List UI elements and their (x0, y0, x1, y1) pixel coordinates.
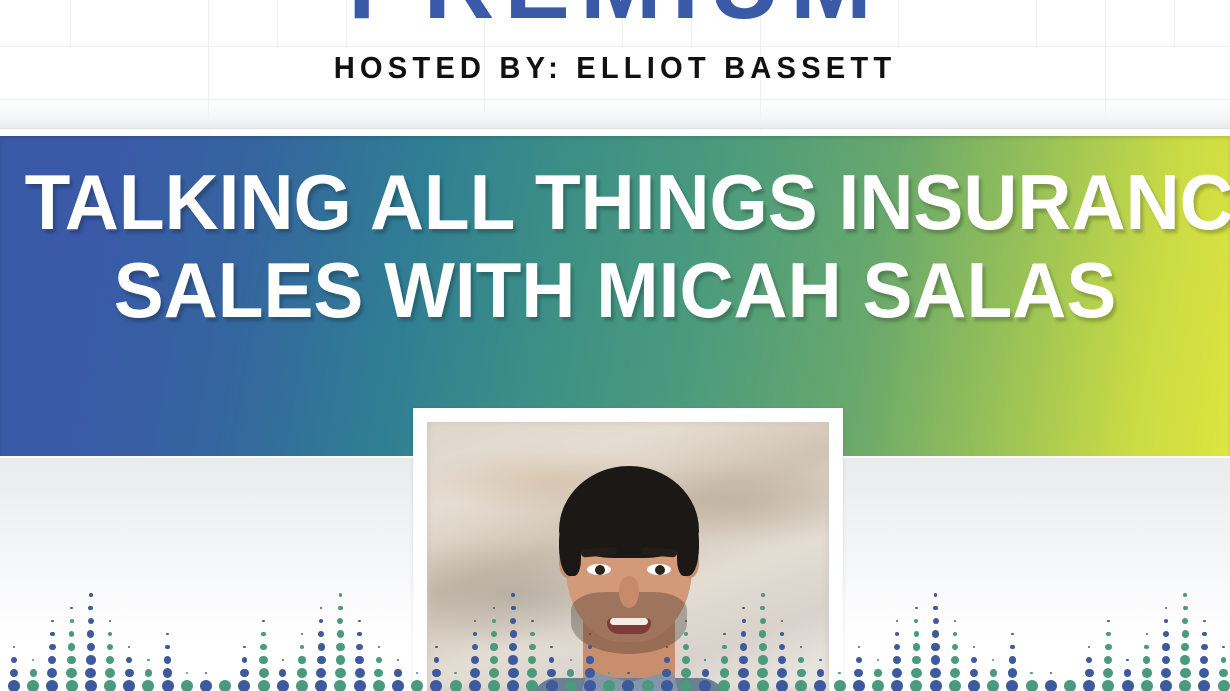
equalizer-column (736, 588, 752, 691)
equalizer-dot (740, 643, 747, 650)
equalizer-dot (315, 680, 327, 691)
equalizer-dot (394, 669, 401, 676)
equalizer-dot (30, 669, 37, 676)
equalizer-column (83, 588, 99, 691)
equalizer-dot (106, 656, 114, 664)
equalizer-dot (1163, 631, 1169, 637)
equalizer-dot (48, 656, 56, 664)
equalizer-dot (930, 668, 941, 679)
equalizer-dot (240, 669, 249, 678)
equalizer-column (1024, 588, 1040, 691)
equalizer-dot (528, 656, 536, 664)
equalizer-dot (661, 680, 673, 691)
equalizer-dot (1165, 607, 1168, 610)
equalizer-dot (1102, 680, 1114, 691)
equalizer-dot (738, 668, 748, 678)
equalizer-dot (392, 680, 404, 691)
equalizer-column (1196, 588, 1212, 691)
equalizer-dot (430, 680, 442, 691)
equalizer-dot (318, 631, 324, 637)
thumbnail-stage: PREMIUM HOSTED BY: ELLIOT BASSETT TALKIN… (0, 0, 1230, 691)
equalizer-dot (32, 659, 35, 662)
equalizer-dot (416, 672, 419, 675)
hair-side-left (559, 518, 581, 576)
equalizer-dot (915, 607, 918, 610)
equalizer-dot (853, 680, 865, 691)
equalizer-column (332, 588, 348, 691)
equalizer-dot (914, 631, 920, 637)
equalizer-column (870, 588, 886, 691)
equalizer-dot (357, 632, 361, 636)
equalizer-dot (1162, 643, 1169, 650)
equalizer-dot (1219, 669, 1228, 678)
equalizer-dot (642, 680, 654, 691)
equalizer-dot (1083, 680, 1095, 691)
equalizer-dot (817, 669, 824, 676)
equalizer-dot (88, 618, 94, 624)
equalizer-dot (797, 669, 806, 678)
equalizer-dot (354, 680, 366, 691)
equalizer-dot (1200, 656, 1208, 664)
equalizer-dot (1006, 680, 1018, 691)
equalizer-dot (877, 659, 880, 662)
equalizer-dot (930, 680, 942, 691)
equalizer-dot (666, 646, 669, 649)
equalizer-dot (492, 619, 496, 623)
equalizer-dot (800, 646, 803, 649)
equalizer-dot (742, 619, 746, 623)
equalizer-dot (913, 643, 920, 650)
equalizer-dot (67, 656, 76, 665)
equalizer-dot (277, 680, 289, 691)
equalizer-dot (296, 680, 308, 691)
equalizer-dot (1201, 644, 1207, 650)
equalizer-dot (373, 680, 385, 691)
equalizer-dot (125, 669, 134, 678)
equalizer-dot (891, 680, 903, 691)
equalizer-column (236, 588, 252, 691)
pupil-right (655, 565, 665, 575)
equalizer-dot (358, 620, 361, 623)
equalizer-dot (50, 632, 54, 636)
equalizer-dot (70, 607, 73, 610)
equalizer-column (697, 588, 713, 691)
equalizer-dot (507, 680, 519, 691)
equalizer-dot (683, 644, 689, 650)
equalizer-dot (508, 668, 519, 679)
equalizer-column (966, 588, 982, 691)
equalizer-dot (778, 656, 786, 664)
equalizer-dot (105, 668, 115, 678)
equalizer-dot (123, 680, 135, 691)
hair-side-right (677, 518, 699, 576)
equalizer-dot (336, 655, 346, 665)
equalizer-dot (397, 659, 400, 662)
equalizer-dot (932, 630, 939, 637)
equalizer-dot (282, 659, 285, 662)
equalizer-dot (973, 646, 976, 649)
equalizer-dot (490, 643, 497, 650)
equalizer-dot (434, 657, 440, 663)
equalizer-dot (720, 668, 730, 678)
equalizer-column (25, 588, 41, 691)
equalizer-dot (910, 680, 922, 691)
equalizer-dot (472, 644, 478, 650)
equalizer-dot (66, 668, 76, 678)
equalizer-dot (200, 680, 212, 691)
equalizer-dot (1180, 655, 1190, 665)
equalizer-dot (68, 643, 75, 650)
equalizer-dot (374, 669, 383, 678)
equalizer-column (544, 588, 560, 691)
equalizer-dot (608, 672, 611, 675)
equalizer-dot (70, 619, 74, 623)
equalizer-dot (895, 632, 899, 636)
equalizer-dot (760, 618, 766, 624)
equalizer-column (524, 588, 540, 691)
equalizer-dot (336, 643, 344, 651)
equalizer-dot (320, 607, 323, 610)
equalizer-dot (316, 668, 326, 678)
equalizer-dot (411, 680, 423, 691)
equalizer-column (160, 588, 176, 691)
equalizer-dot (163, 668, 173, 678)
equalizer-dot (759, 643, 767, 651)
equalizer-column (140, 588, 156, 691)
equalizer-dot (681, 668, 691, 678)
equalizer-dot (166, 633, 169, 636)
equalizer-dot (107, 644, 113, 650)
equalizer-column (793, 588, 809, 691)
equalizer-column (390, 588, 406, 691)
equalizer-dot (493, 607, 496, 610)
equalizer-dot (1008, 668, 1018, 678)
equalizer-dot (894, 644, 900, 650)
equalizer-dot (469, 680, 481, 691)
equalizer-dot (950, 668, 960, 678)
equalizer-dot (1010, 645, 1015, 650)
equalizer-dot (721, 656, 728, 663)
equalizer-column (102, 588, 118, 691)
equalizer-dot (10, 669, 19, 678)
equalizer-dot (1104, 656, 1112, 664)
equalizer-column (640, 588, 656, 691)
equalizer-column (409, 588, 425, 691)
equalizer-column (371, 588, 387, 691)
equalizer-column (601, 588, 617, 691)
header-divider (0, 128, 1230, 129)
equalizer-dot (108, 632, 112, 636)
equalizer-dot (741, 631, 747, 637)
equalizer-dot (87, 630, 94, 637)
equalizer-column (563, 588, 579, 691)
equalizer-dot (164, 656, 171, 663)
hosted-by-label: HOSTED BY: ELLIOT BASSETT (37, 52, 1193, 83)
equalizer-dot (664, 657, 670, 663)
equalizer-dot (259, 656, 267, 664)
equalizer-dot (702, 669, 709, 676)
equalizer-dot (142, 680, 154, 691)
equalizer-dot (1221, 657, 1227, 663)
equalizer-column (275, 588, 291, 691)
equalizer-dot (1199, 668, 1209, 678)
equalizer-column (1100, 588, 1116, 691)
equalizer-dot (952, 644, 958, 650)
equalizer-dot (547, 669, 556, 678)
equalizer-dot (219, 680, 231, 691)
equalizer-dot (704, 659, 707, 662)
equalizer-dot (761, 593, 765, 597)
equalizer-dot (145, 669, 152, 676)
equalizer-dot (1026, 680, 1038, 691)
equalizer-dot (454, 672, 457, 675)
equalizer-column (832, 588, 848, 691)
equalizer-dot (1086, 657, 1092, 663)
equalizer-column (1120, 588, 1136, 691)
equalizer-dot (262, 620, 265, 623)
equalizer-column (64, 588, 80, 691)
equalizer-dot (529, 644, 535, 650)
equalizer-dot (259, 668, 269, 678)
equalizer-dot (1050, 672, 1053, 675)
equalizer-dot (318, 643, 325, 650)
equalizer-dot (1124, 669, 1131, 676)
equalizer-dot (1030, 672, 1033, 675)
equalizer-column (1177, 588, 1193, 691)
equalizer-dot (1198, 680, 1210, 691)
header-fade (0, 99, 1230, 128)
equalizer-dot (742, 607, 745, 610)
equalizer-dot (46, 680, 58, 691)
equalizer-dot (565, 680, 577, 691)
equalizer-column (1158, 588, 1174, 691)
equalizer-dot (1106, 632, 1110, 636)
equalizer-dot (759, 630, 766, 637)
episode-title-line-1: TALKING ALL THINGS INSURANCE (25, 158, 1206, 246)
equalizer-dot (337, 618, 343, 624)
equalizer-dot (931, 643, 939, 651)
equalizer-dot (819, 659, 822, 662)
equalizer-dot (473, 632, 477, 636)
equalizer-dot (1045, 680, 1057, 691)
equalizer-dot (242, 657, 248, 663)
equalizer-dot (128, 646, 131, 649)
equalizer-dot (1203, 620, 1206, 623)
equalizer-dot (757, 680, 769, 691)
equalizer-dot (1183, 606, 1188, 611)
equalizer-dot (760, 606, 765, 611)
equalizer-column (947, 588, 963, 691)
equalizer-dot (1183, 593, 1187, 597)
equalizer-dot (896, 620, 899, 623)
equalizer-dot (987, 680, 999, 691)
equalizer-dot (968, 680, 980, 691)
equalizer-dot (911, 668, 921, 678)
equalizer-dot (51, 620, 54, 623)
equalizer-dot (622, 680, 634, 691)
equalizer-column (1081, 588, 1097, 691)
equalizer-dot (300, 645, 305, 650)
equalizer-dot (951, 656, 959, 664)
equalizer-column (678, 588, 694, 691)
equalizer-dot (627, 672, 630, 675)
equalizer-dot (1085, 669, 1094, 678)
equalizer-dot (680, 680, 692, 691)
equalizer-dot (298, 656, 305, 663)
equalizer-dot (186, 672, 189, 675)
equalizer-dot (509, 643, 517, 651)
equalizer-dot (814, 680, 826, 691)
equalizer-dot (1143, 656, 1150, 663)
equalizer-dot (238, 680, 250, 691)
equalizer-dot (376, 657, 382, 663)
equalizer-dot (931, 655, 941, 665)
equalizer-dot (471, 656, 479, 664)
equalizer-dot (181, 680, 193, 691)
equalizer-dot (570, 659, 573, 662)
equalizer-dot (510, 630, 517, 637)
equalizer-column (179, 588, 195, 691)
equalizer-dot (338, 606, 343, 611)
equalizer-column (774, 588, 790, 691)
equalizer-dot (954, 620, 957, 623)
equalizer-dot (339, 593, 343, 597)
equalizer-dot (739, 656, 748, 665)
equalizer-dot (738, 680, 750, 691)
equalizer-dot (450, 680, 462, 691)
equalizer-dot (432, 669, 441, 678)
equalizer-dot (530, 632, 534, 636)
equalizer-column (908, 588, 924, 691)
equalizer-column (198, 588, 214, 691)
equalizer-dot (872, 680, 884, 691)
equalizer-dot (260, 644, 266, 650)
audio-dot-equalizer (0, 588, 1230, 691)
equalizer-dot (893, 656, 901, 664)
equalizer-dot (949, 680, 961, 691)
equalizer-column (121, 588, 137, 691)
equalizer-dot (334, 680, 346, 691)
equalizer-column (620, 588, 636, 691)
equalizer-dot (585, 668, 595, 678)
equalizer-column (256, 588, 272, 691)
equalizer-column (1043, 588, 1059, 691)
equalizer-dot (1141, 680, 1153, 691)
equalizer-dot (47, 668, 57, 678)
equalizer-dot (549, 657, 555, 663)
equalizer-dot (1122, 680, 1134, 691)
equalizer-dot (856, 657, 862, 663)
equalizer-dot (511, 606, 516, 611)
equalizer-dot (1105, 644, 1111, 650)
equalizer-dot (258, 680, 270, 691)
brand-wordmark-wrap: PREMIUM (0, 0, 1230, 55)
equalizer-dot (858, 646, 861, 649)
equalizer-dot (838, 672, 841, 675)
equalizer-dot (589, 633, 592, 636)
equalizer-dot (337, 630, 344, 637)
equalizer-dot (531, 620, 534, 623)
equalizer-column (428, 588, 444, 691)
equalizer-dot (490, 656, 499, 665)
equalizer-dot (527, 668, 537, 678)
equalizer-column (716, 588, 732, 691)
equalizer-dot (1161, 668, 1171, 678)
equalizer-column (486, 588, 502, 691)
equalizer-column (582, 588, 598, 691)
equalizer-dot (1103, 668, 1113, 678)
equalizer-dot (1088, 646, 1091, 649)
equalizer-dot (933, 606, 938, 611)
equalizer-dot (147, 659, 150, 662)
equalizer-dot (261, 632, 265, 636)
equalizer-dot (511, 593, 515, 597)
equalizer-dot (718, 680, 730, 691)
equalizer-dot (86, 655, 96, 665)
brand-wordmark: PREMIUM (0, 0, 1230, 34)
equalizer-dot (777, 668, 787, 678)
episode-title-line-2: SALES WITH MICAH SALAS (25, 246, 1206, 334)
equalizer-column (1004, 588, 1020, 691)
equalizer-dot (435, 646, 438, 649)
equalizer-dot (205, 672, 208, 675)
equalizer-dot (586, 656, 593, 663)
equalizer-dot (722, 645, 727, 650)
equalizer-dot (912, 656, 921, 665)
equalizer-dot (165, 645, 170, 650)
equalizer-dot (335, 668, 346, 679)
equalizer-column (505, 588, 521, 691)
equalizer-dot (798, 657, 804, 663)
equalizer-dot (780, 632, 784, 636)
equalizer-dot (1222, 646, 1225, 649)
equalizer-column (6, 588, 22, 691)
episode-title: TALKING ALL THINGS INSURANCE SALES WITH … (25, 158, 1206, 334)
equalizer-dot (88, 606, 93, 611)
equalizer-dot (297, 668, 307, 678)
equalizer-column (467, 588, 483, 691)
equalizer-dot (109, 620, 112, 623)
equalizer-dot (378, 646, 381, 649)
equalizer-dot (1064, 680, 1076, 691)
equalizer-dot (990, 669, 997, 676)
equalizer-dot (892, 668, 902, 678)
equalizer-dot (971, 657, 977, 663)
equalizer-column (352, 588, 368, 691)
equalizer-dot (795, 680, 807, 691)
equalizer-dot (699, 680, 711, 691)
equalizer-column (985, 588, 1001, 691)
equalizer-dot (87, 643, 95, 651)
equalizer-column (1062, 588, 1078, 691)
equalizer-dot (914, 619, 918, 623)
equalizer-dot (489, 668, 499, 678)
equalizer-column (217, 588, 233, 691)
equalizer-dot (567, 669, 574, 676)
equalizer-dot (13, 646, 16, 649)
equalizer-dot (470, 668, 480, 678)
equalizer-dot (874, 669, 881, 676)
equalizer-dot (474, 620, 477, 623)
equalizer-dot (319, 619, 323, 623)
equalizer-dot (126, 657, 132, 663)
equalizer-dot (854, 669, 863, 678)
equalizer-dot (11, 657, 17, 663)
equalizer-dot (550, 646, 553, 649)
equalizer-column (44, 588, 60, 691)
equalizer-column (755, 588, 771, 691)
equalizer-dot (49, 644, 55, 650)
